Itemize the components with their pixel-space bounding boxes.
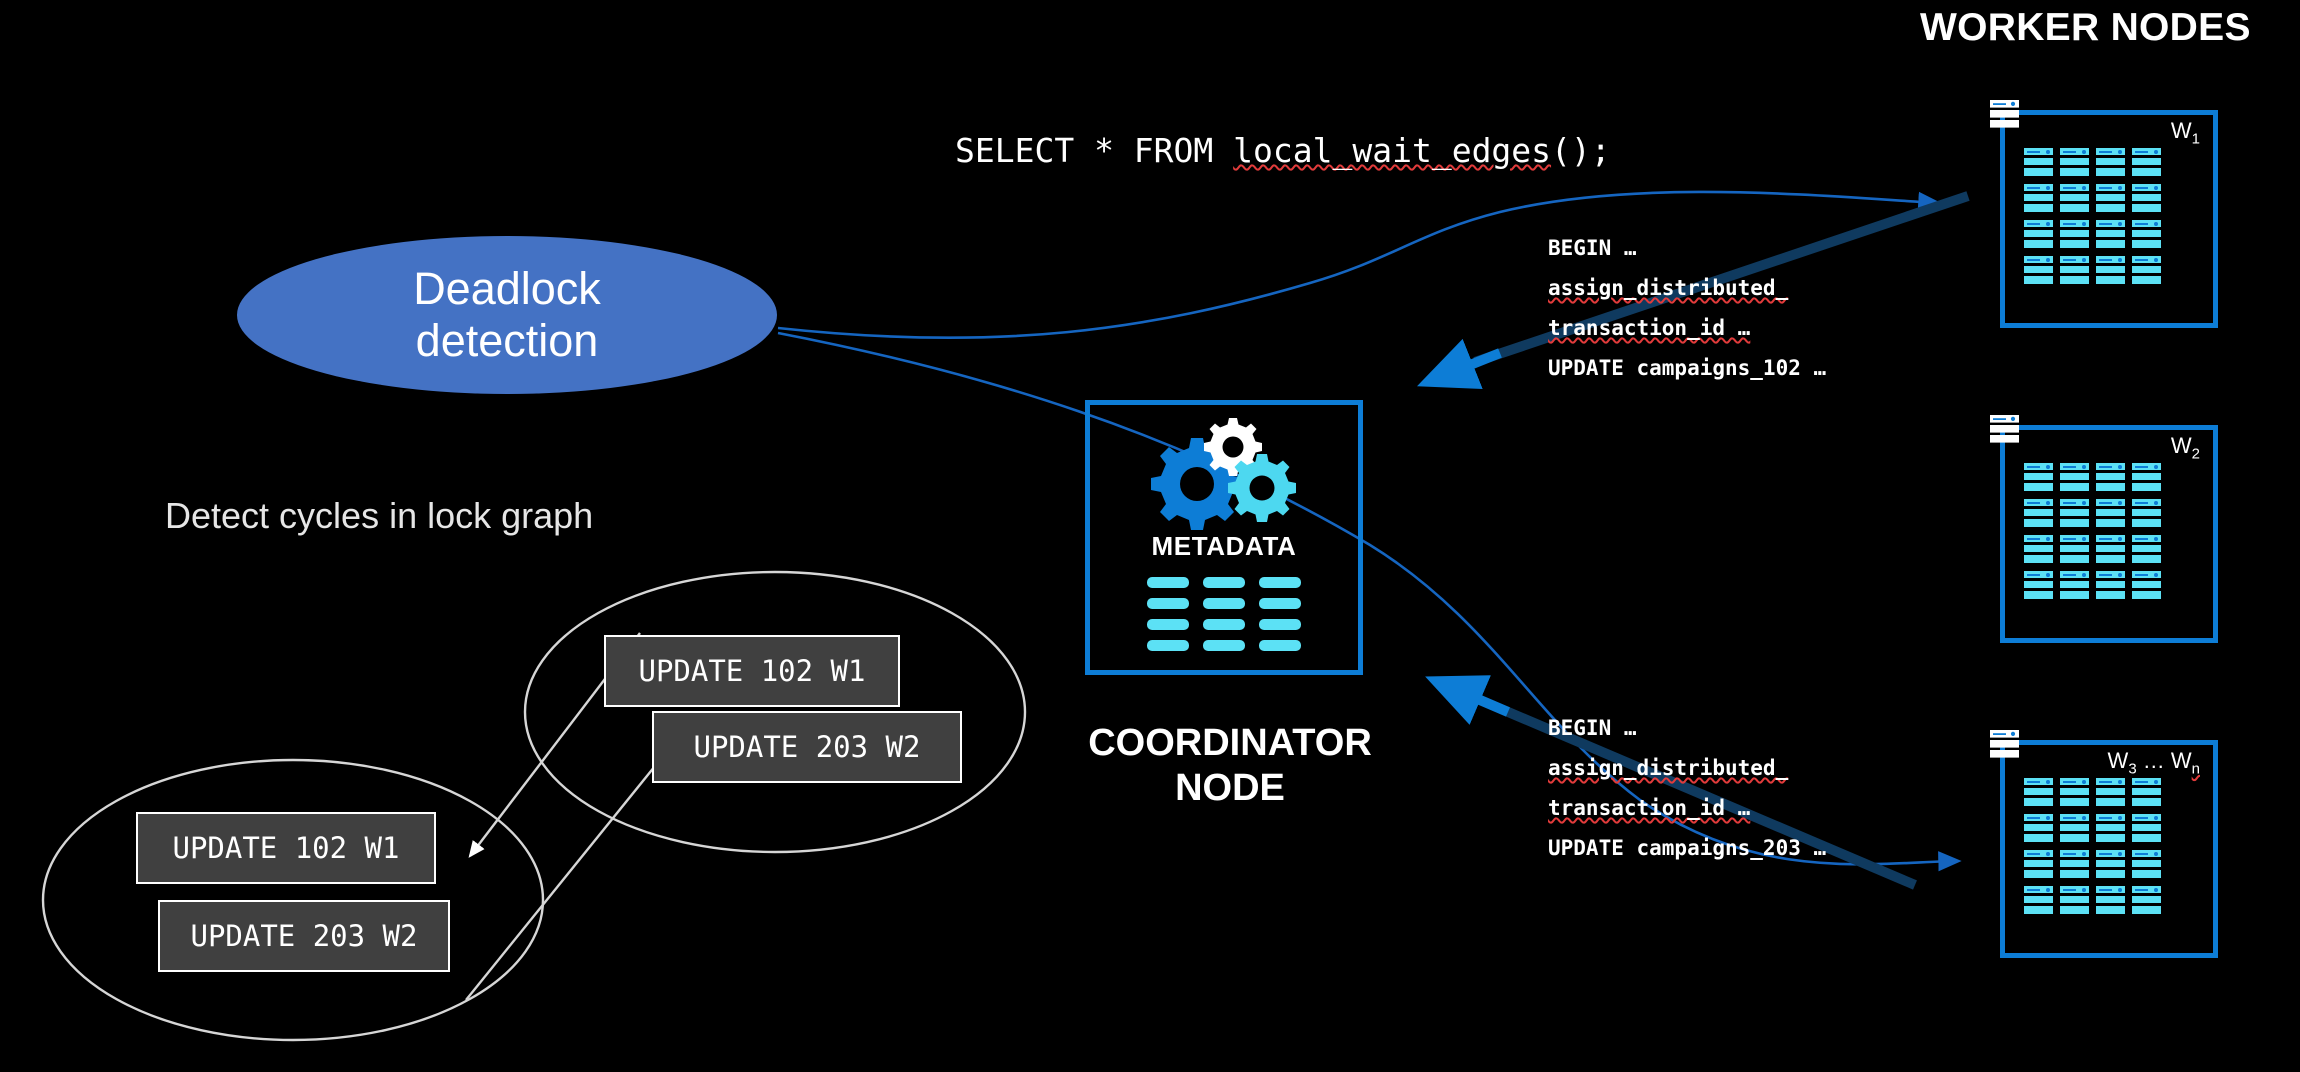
coordinator-heading-line2: NODE [1060, 766, 1400, 811]
shard-icon [2132, 778, 2161, 806]
shard-icon [2096, 814, 2125, 842]
shard-icon [2060, 778, 2089, 806]
shard-icon [2096, 256, 2125, 284]
metadata-bar [1203, 640, 1245, 651]
shard-icon [2096, 535, 2125, 563]
shard-icon [2060, 256, 2089, 284]
metadata-bar [1259, 577, 1301, 588]
shard-icon [2096, 850, 2125, 878]
deadlock-detection-label: Deadlock detection [413, 263, 601, 367]
sql-prefix: SELECT * FROM [955, 131, 1233, 170]
worker-node-w2: W2 [1990, 415, 2218, 643]
worker-label-index: 3 [2128, 760, 2136, 777]
server-stack-icon [1990, 730, 2020, 758]
worker-node-w1: W1 [1990, 100, 2218, 328]
shard-icon [2132, 886, 2161, 914]
shard-icon [2096, 463, 2125, 491]
lock-node-box: UPDATE 102 W1 [136, 812, 436, 884]
tx-line: transaction_id … [1548, 796, 1750, 820]
worker-label-index-n: n [2192, 760, 2200, 777]
shard-icon [2024, 535, 2053, 563]
worker-label: W3 … Wn [2108, 748, 2200, 777]
shard-icon [2132, 184, 2161, 212]
metadata-bar [1259, 640, 1301, 651]
shard-icon [2132, 148, 2161, 176]
shard-icon [2132, 220, 2161, 248]
coordinator-node-heading: COORDINATOR NODE [1060, 721, 1400, 811]
shard-icon [2132, 850, 2161, 878]
tx-line: BEGIN … [1548, 708, 1826, 748]
shard-grid [2024, 463, 2161, 599]
shard-icon [2060, 499, 2089, 527]
lock-node-box: UPDATE 102 W1 [604, 635, 900, 707]
metadata-bar [1259, 619, 1301, 630]
worker-label: W2 [2171, 433, 2200, 462]
shard-icon [2096, 220, 2125, 248]
shard-icon [2024, 499, 2053, 527]
deadlock-detection-node: Deadlock detection [237, 236, 777, 394]
tx-line: UPDATE campaigns_203 … [1548, 828, 1826, 868]
shard-icon [2096, 886, 2125, 914]
tx-line: UPDATE campaigns_102 … [1548, 348, 1826, 388]
shard-icon [2024, 148, 2053, 176]
worker-label: W1 [2171, 118, 2200, 147]
shard-icon [2024, 814, 2053, 842]
shard-icon [2096, 499, 2125, 527]
shard-icon [2132, 814, 2161, 842]
shard-icon [2060, 850, 2089, 878]
coordinator-heading-line1: COORDINATOR [1060, 721, 1400, 766]
deadlock-label-line1: Deadlock [413, 263, 601, 315]
tx-line: assign_distributed_ [1548, 276, 1788, 300]
tx-line: BEGIN … [1548, 228, 1826, 268]
server-stack-icon [1990, 100, 2020, 128]
shard-icon [2060, 886, 2089, 914]
shard-icon [2024, 571, 2053, 599]
coordinator-node-box: METADATA [1085, 400, 1363, 675]
shard-icon [2060, 463, 2089, 491]
shard-icon [2096, 571, 2125, 599]
worker-label-index: 1 [2192, 130, 2200, 147]
lock-node-box: UPDATE 203 W2 [158, 900, 450, 972]
metadata-bars-grid [1147, 577, 1301, 651]
shard-icon [2132, 499, 2161, 527]
lock-node-box: UPDATE 203 W2 [652, 711, 962, 783]
shard-icon [2024, 463, 2053, 491]
metadata-bar [1147, 619, 1189, 630]
sql-function-name: local_wait_edges [1233, 131, 1551, 170]
deadlock-label-line2: detection [413, 315, 601, 367]
metadata-bar [1147, 577, 1189, 588]
slide-canvas: WORKER NODES COORDINATOR NODE SELECT * F… [0, 0, 2300, 1072]
transaction-snippet-203: BEGIN … assign_distributed_ transaction_… [1548, 708, 1826, 868]
worker-node-w3: W3 … Wn [1990, 730, 2218, 958]
shard-icon [2060, 535, 2089, 563]
sql-query-text: SELECT * FROM local_wait_edges(); [955, 131, 1611, 170]
metadata-bar [1203, 619, 1245, 630]
metadata-bar [1203, 598, 1245, 609]
shard-icon [2024, 256, 2053, 284]
shard-icon [2024, 850, 2053, 878]
metadata-bar [1147, 598, 1189, 609]
shard-icon [2024, 778, 2053, 806]
edge-left-to-right [466, 745, 672, 1000]
shard-icon [2132, 535, 2161, 563]
metadata-bar [1203, 577, 1245, 588]
shard-grid [2024, 778, 2161, 914]
worker-label-main: W [2171, 433, 2192, 458]
shard-icon [2132, 463, 2161, 491]
transaction-snippet-102: BEGIN … assign_distributed_ transaction_… [1548, 228, 1826, 388]
worker-label-index: 2 [2192, 445, 2200, 462]
detect-cycles-caption: Detect cycles in lock graph [165, 495, 593, 537]
tx-line: transaction_id … [1548, 316, 1750, 340]
shard-icon [2060, 571, 2089, 599]
tx-line: assign_distributed_ [1548, 756, 1788, 780]
shard-icon [2024, 220, 2053, 248]
metadata-bar [1259, 598, 1301, 609]
shard-icon [2060, 220, 2089, 248]
worker-label-main: W [2171, 118, 2192, 143]
shard-icon [2060, 148, 2089, 176]
metadata-bar [1147, 640, 1189, 651]
server-stack-icon [1990, 415, 2020, 443]
worker-label-range: … W [2137, 748, 2192, 773]
shard-icon [2096, 184, 2125, 212]
shard-icon [2060, 184, 2089, 212]
shard-icon [2024, 886, 2053, 914]
sql-suffix: (); [1551, 131, 1611, 170]
shard-icon [2132, 256, 2161, 284]
metadata-label: METADATA [1090, 531, 1358, 562]
shard-icon [2132, 571, 2161, 599]
shard-icon [2024, 184, 2053, 212]
shard-icon [2096, 778, 2125, 806]
worker-nodes-heading: WORKER NODES [1920, 6, 2251, 50]
shard-grid [2024, 148, 2161, 284]
worker-label-main: W [2108, 748, 2129, 773]
shard-icon [2060, 814, 2089, 842]
shard-icon [2096, 148, 2125, 176]
